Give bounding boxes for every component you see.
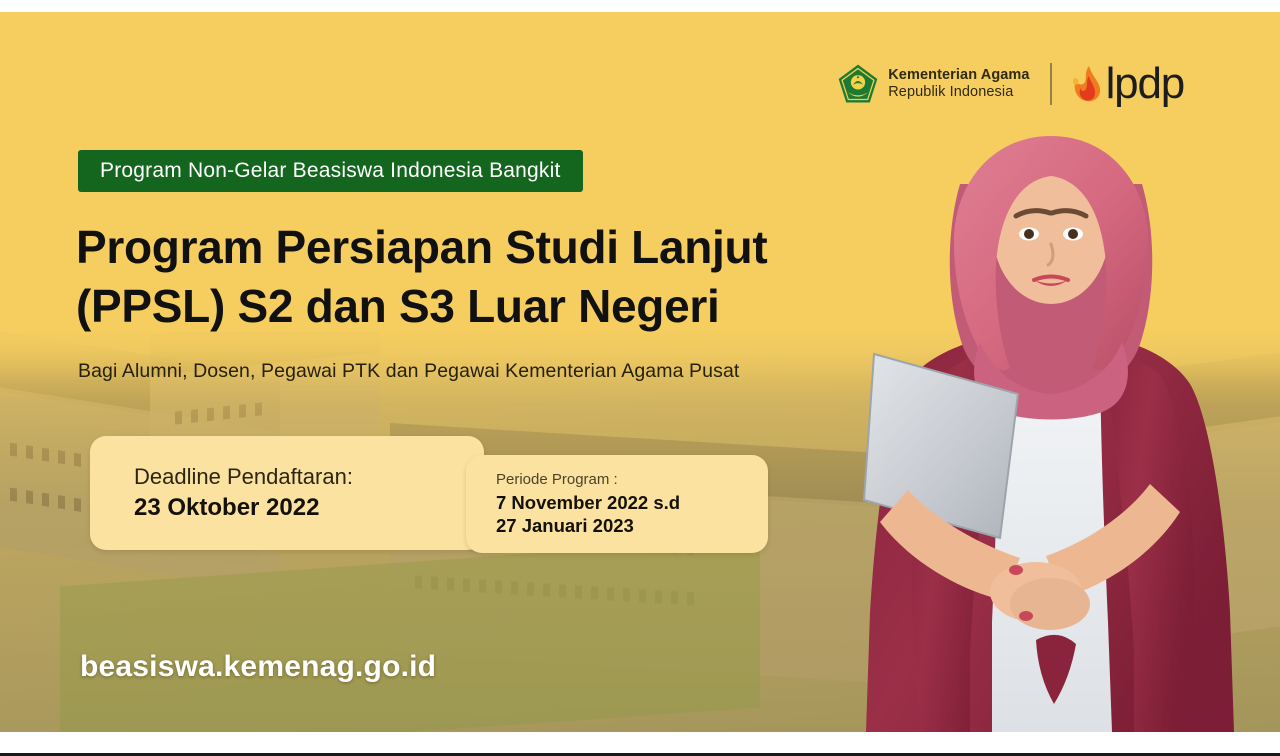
period-value-line-2: 27 Januari 2023 — [496, 514, 768, 537]
lpdp-logo: lpdp — [1072, 62, 1184, 106]
website-url[interactable]: beasiswa.kemenag.go.id — [80, 650, 436, 684]
banner-page: Kementerian Agama Republik Indonesia lpd… — [0, 0, 1280, 756]
logo-bar: Kementerian Agama Republik Indonesia lpd… — [837, 54, 1184, 114]
kemenag-emblem-icon — [837, 63, 879, 105]
headline-line-1: Program Persiapan Studi Lanjut — [76, 218, 767, 277]
kemenag-line-2: Republik Indonesia — [888, 84, 1029, 101]
vertical-divider-icon — [1050, 63, 1052, 105]
model-photo — [850, 92, 1250, 732]
lpdp-wordmark: lpdp — [1106, 62, 1184, 106]
lpdp-flame-icon — [1072, 65, 1102, 103]
program-badge-label: Program Non-Gelar Beasiswa Indonesia Ban… — [100, 159, 561, 183]
page-subtitle: Bagi Alumni, Dosen, Pegawai PTK dan Pega… — [78, 360, 739, 383]
page-title: Program Persiapan Studi Lanjut (PPSL) S2… — [76, 218, 767, 336]
scholarship-banner: Kementerian Agama Republik Indonesia lpd… — [0, 12, 1280, 732]
deadline-card: Deadline Pendaftaran: 23 Oktober 2022 — [90, 436, 484, 550]
period-label: Periode Program : — [496, 471, 768, 488]
kemenag-logo: Kementerian Agama Republik Indonesia — [837, 63, 1029, 105]
period-value: 7 November 2022 s.d 27 Januari 2023 — [496, 491, 768, 537]
kemenag-line-1: Kementerian Agama — [888, 67, 1029, 84]
kemenag-wordmark: Kementerian Agama Republik Indonesia — [888, 67, 1029, 100]
period-card: Periode Program : 7 November 2022 s.d 27… — [466, 455, 768, 553]
deadline-label: Deadline Pendaftaran: — [134, 464, 484, 490]
program-badge: Program Non-Gelar Beasiswa Indonesia Ban… — [78, 150, 583, 192]
headline-line-2: (PPSL) S2 dan S3 Luar Negeri — [76, 277, 767, 336]
deadline-value: 23 Oktober 2022 — [134, 494, 484, 522]
period-value-line-1: 7 November 2022 s.d — [496, 491, 768, 514]
